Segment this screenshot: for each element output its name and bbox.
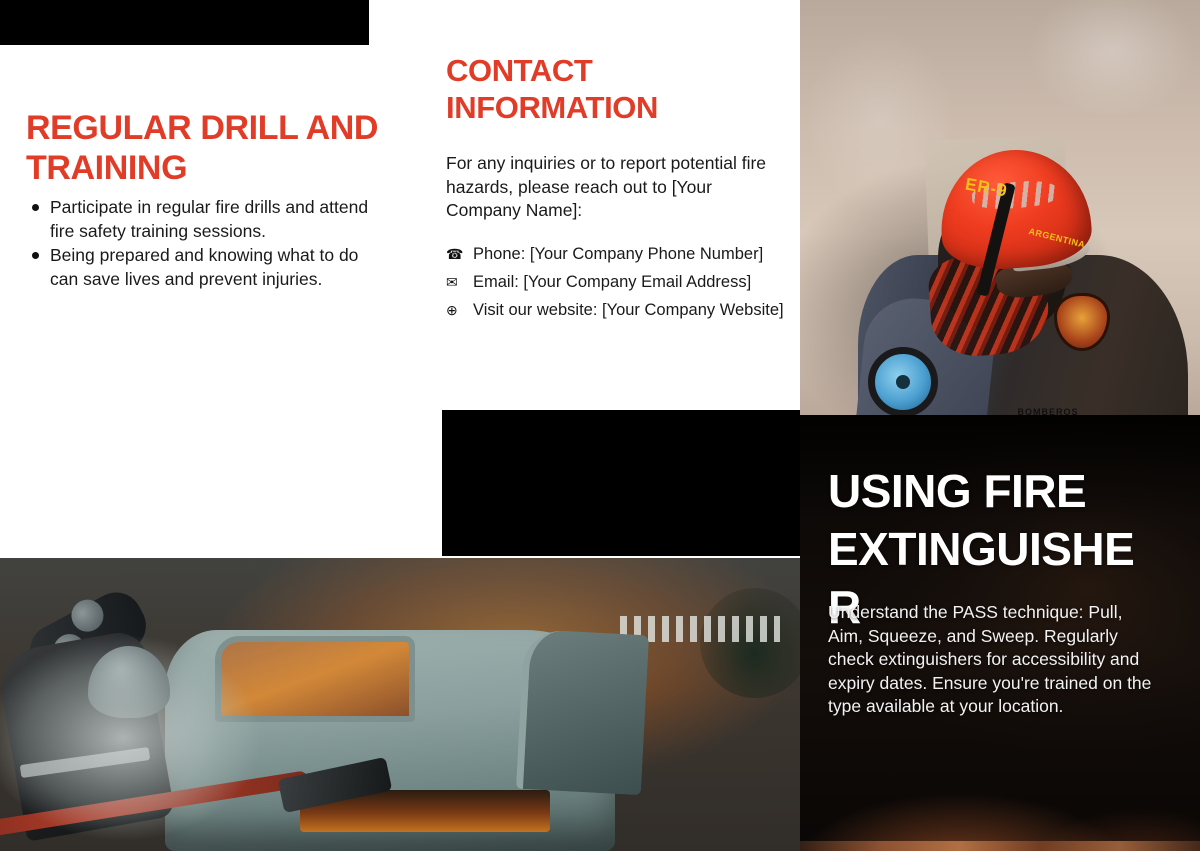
contact-phone-text: Phone: [Your Company Phone Number] xyxy=(473,245,763,263)
decorative-black-block-top-left xyxy=(0,0,369,45)
firefighter-portrait-photo: ER-9 ARGENTINA BOMBEROS xyxy=(800,0,1200,426)
contact-website-text: Visit our website: [Your Company Website… xyxy=(473,301,784,319)
using-fire-extinguisher-section: USING FIRE EXTINGUISHER Understand the P… xyxy=(800,415,1200,851)
brochure-page: REGULAR DRILL AND TRAINING Participate i… xyxy=(0,0,1200,851)
ember-glow xyxy=(800,761,1200,851)
burning-car-photo xyxy=(0,558,800,851)
globe-icon: ⊕ xyxy=(446,296,466,324)
car-door xyxy=(516,629,649,795)
background-tree xyxy=(700,588,800,698)
list-item: ✉ Email: [Your Company Email Address] xyxy=(446,268,791,296)
regular-drill-section: REGULAR DRILL AND TRAINING Participate i… xyxy=(26,108,386,292)
contact-information-heading: CONTACT INFORMATION xyxy=(446,52,791,126)
decorative-black-block-middle xyxy=(442,410,800,556)
list-item: ⊕ Visit our website: [Your Company Websi… xyxy=(446,296,791,324)
regular-drill-bullet-list: Participate in regular fire drills and a… xyxy=(26,196,386,291)
panel-content: USING FIRE EXTINGUISHER Understand the P… xyxy=(800,415,1200,636)
regular-drill-heading: REGULAR DRILL AND TRAINING xyxy=(26,108,386,188)
list-item: Participate in regular fire drills and a… xyxy=(26,196,386,243)
contact-details-list: ☎ Phone: [Your Company Phone Number] ✉ E… xyxy=(446,240,791,324)
contact-email-text: Email: [Your Company Email Address] xyxy=(473,273,751,291)
contact-intro-text: For any inquiries or to report potential… xyxy=(446,152,791,223)
list-item: Being prepared and knowing what to do ca… xyxy=(26,244,386,291)
using-fire-extinguisher-body: Understand the PASS technique: Pull, Aim… xyxy=(828,601,1158,719)
smoke-cloud xyxy=(0,618,300,851)
envelope-icon: ✉ xyxy=(446,268,466,296)
bottom-color-strip xyxy=(800,841,1200,851)
phone-icon: ☎ xyxy=(446,240,466,268)
round-patch xyxy=(868,347,938,417)
contact-information-section: CONTACT INFORMATION For any inquiries or… xyxy=(446,52,791,324)
list-item: ☎ Phone: [Your Company Phone Number] xyxy=(446,240,791,268)
